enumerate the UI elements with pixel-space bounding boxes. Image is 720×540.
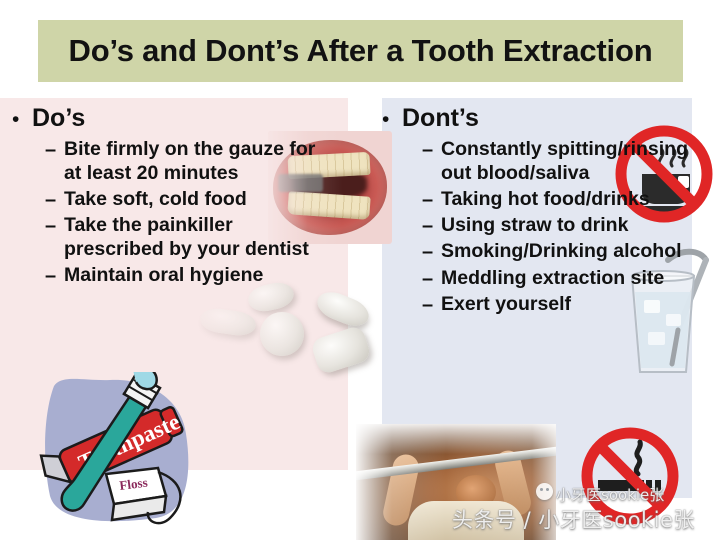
donts-heading: Dont’s bbox=[402, 104, 479, 132]
gym-photo-fade bbox=[356, 424, 556, 540]
cigarette-tip bbox=[655, 480, 661, 491]
list-item-label: Constantly spitting/rinsing out blood/sa… bbox=[441, 138, 691, 186]
list-item-label: Taking hot food/drinks bbox=[441, 188, 650, 212]
no-smoking-sign bbox=[578, 424, 682, 528]
dos-heading-row: • Do’s bbox=[12, 104, 352, 132]
dash-icon: – bbox=[422, 214, 441, 238]
list-item: – Taking hot food/drinks bbox=[382, 188, 694, 212]
list-item: – Constantly spitting/rinsing out blood/… bbox=[382, 138, 694, 186]
bullet-icon: • bbox=[12, 109, 32, 130]
dos-heading: Do’s bbox=[32, 104, 85, 132]
toothpaste-clipart: Toothpaste Floss bbox=[24, 372, 210, 532]
list-item: – Bite firmly on the gauze for at least … bbox=[12, 138, 352, 186]
donts-column: • Dont’s – Constantly spitting/rinsing o… bbox=[382, 104, 694, 320]
dash-icon: – bbox=[422, 188, 441, 212]
donts-heading-row: • Dont’s bbox=[382, 104, 694, 132]
list-item-label: Take the painkiller prescribed by your d… bbox=[64, 214, 316, 262]
no-smoking-svg bbox=[578, 424, 682, 528]
prohibition-slash bbox=[599, 445, 661, 507]
toothpaste-svg: Toothpaste Floss bbox=[24, 372, 210, 532]
list-item-label: Bite firmly on the gauze for at least 20… bbox=[64, 138, 316, 186]
ice-cube bbox=[648, 332, 665, 345]
list-item: – Maintain oral hygiene bbox=[12, 264, 352, 288]
slide-title-bar: Do’s and Dont’s After a Tooth Extraction bbox=[38, 20, 683, 82]
donts-list: – Constantly spitting/rinsing out blood/… bbox=[382, 138, 694, 318]
list-item-label: Exert yourself bbox=[441, 293, 571, 317]
dash-icon: – bbox=[45, 138, 64, 162]
list-item-label: Smoking/Drinking alcohol bbox=[441, 240, 682, 264]
slide-canvas: Toothpaste Floss bbox=[0, 0, 720, 540]
bullet-icon: • bbox=[382, 109, 402, 130]
dash-icon: – bbox=[422, 138, 441, 162]
list-item: – Take the painkiller prescribed by your… bbox=[12, 214, 352, 262]
list-item-label: Using straw to drink bbox=[441, 214, 628, 238]
smoke-curl bbox=[636, 442, 640, 474]
slide-title: Do’s and Dont’s After a Tooth Extraction bbox=[69, 33, 653, 69]
dos-list: – Bite firmly on the gauze for at least … bbox=[12, 138, 352, 288]
list-item-label: Maintain oral hygiene bbox=[64, 264, 263, 288]
dash-icon: – bbox=[422, 293, 441, 317]
list-item: – Exert yourself bbox=[382, 293, 694, 317]
list-item: – Using straw to drink bbox=[382, 214, 694, 238]
dash-icon: – bbox=[422, 267, 441, 291]
dash-icon: – bbox=[45, 264, 64, 288]
list-item-label: Take soft, cold food bbox=[64, 188, 247, 212]
dos-column: • Do’s – Bite firmly on the gauze for at… bbox=[12, 104, 352, 290]
list-item: – Take soft, cold food bbox=[12, 188, 352, 212]
dash-icon: – bbox=[45, 214, 64, 238]
wechat-icon bbox=[536, 483, 553, 500]
dash-icon: – bbox=[45, 188, 64, 212]
list-item-label: Meddling extraction site bbox=[441, 267, 664, 291]
list-item: – Meddling extraction site bbox=[382, 267, 694, 291]
bench-press-photo bbox=[356, 424, 556, 540]
list-item: – Smoking/Drinking alcohol bbox=[382, 240, 694, 264]
dash-icon: – bbox=[422, 240, 441, 264]
